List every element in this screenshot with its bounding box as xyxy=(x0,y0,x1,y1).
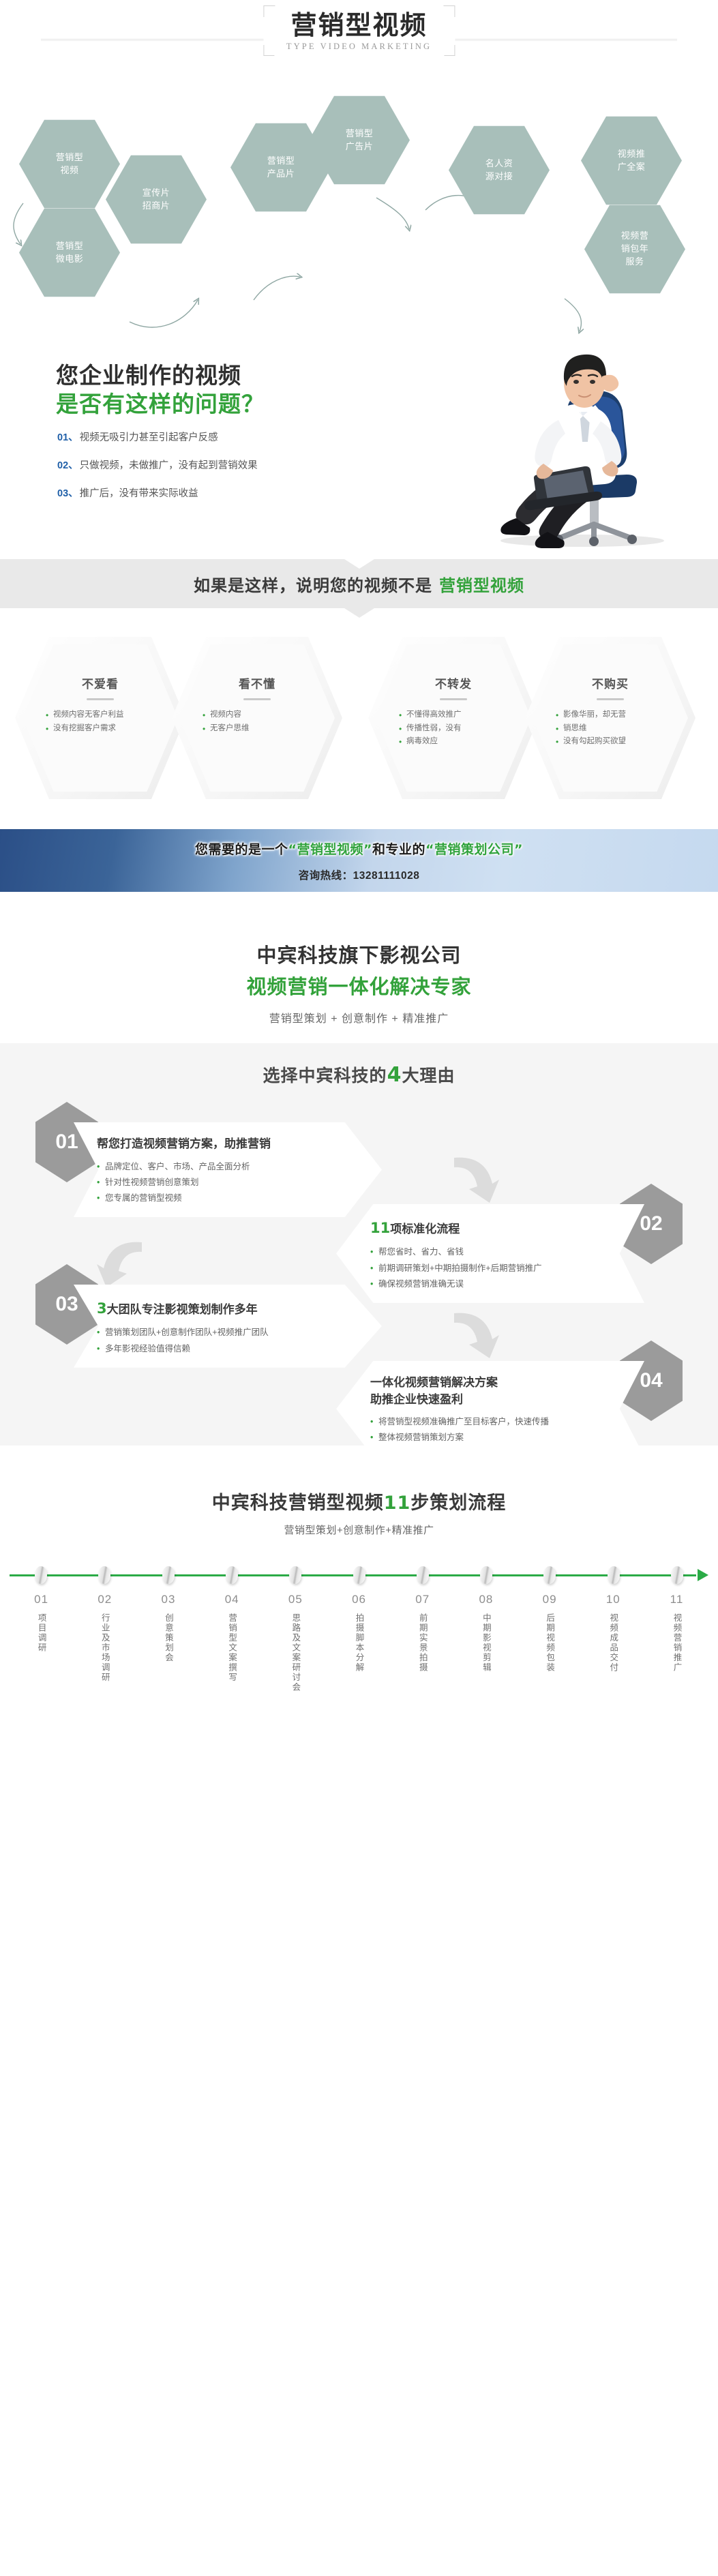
timeline-step-label: 思路及文案研讨会 xyxy=(288,1613,302,1692)
timeline-node[interactable] xyxy=(353,1566,365,1584)
reason-title-number-02: 11 xyxy=(370,1220,390,1236)
divider xyxy=(243,698,271,700)
problem-hex-row: 不爱看 视频内容无客户利益 没有挖掘客户需求 看不懂 视频内容 无客户思维 不转… xyxy=(0,637,718,814)
problem-item-number: 02、 xyxy=(57,460,78,471)
flow-arrow-down-right xyxy=(450,1151,509,1210)
timeline-title: 中宾科技营销型视频11步策划流程 xyxy=(0,1488,718,1514)
timeline-step-number: 06 xyxy=(327,1593,391,1606)
timeline-title-number: 11 xyxy=(384,1493,411,1514)
problem-list-item: 01、视频无吸引力甚至引起客户反感 xyxy=(57,430,258,444)
timeline-step-label: 营销型文案撰写 xyxy=(225,1613,239,1683)
problem-hex-2-bullet: 无客户思维 xyxy=(203,722,312,736)
timeline-step-number: 09 xyxy=(518,1593,582,1606)
businessman-photo xyxy=(456,346,695,551)
timeline-step[interactable]: 09 后期视频包装 xyxy=(518,1593,582,1696)
problem-hex-2[interactable]: 看不懂 视频内容 无客户思维 xyxy=(172,637,342,799)
flow-arrow-down-right-2 xyxy=(450,1306,509,1365)
conclusion-banner: 如果是这样，说明您的视频不是营销型视频 xyxy=(0,559,718,608)
timeline-step-label: 拍摄脚本分解 xyxy=(353,1613,366,1673)
timeline-step-number: 07 xyxy=(391,1593,454,1606)
reason-title-04: 一体化视频营销解决方案 助推企业快速盈利 xyxy=(370,1375,621,1408)
problem-hex-3[interactable]: 不转发 不懂得高效推广 传播性弱，没有 病毒效应 xyxy=(368,637,539,799)
timeline-node[interactable] xyxy=(226,1566,238,1584)
timeline-step-number: 02 xyxy=(73,1593,136,1606)
timeline-step[interactable]: 03 创意策划会 xyxy=(136,1593,200,1696)
timeline-step[interactable]: 06 拍摄脚本分解 xyxy=(327,1593,391,1696)
reason-title-number-03: 3 xyxy=(97,1300,107,1317)
timeline-step[interactable]: 01 项目调研 xyxy=(10,1593,73,1696)
reason-title-rest-02: 项标准化流程 xyxy=(390,1223,460,1236)
timeline-step-label: 项目调研 xyxy=(35,1613,48,1653)
problem-item-text: 只做视频，未做推广，没有起到营销效果 xyxy=(80,460,258,471)
timeline-step[interactable]: 07 前期实景拍摄 xyxy=(391,1593,454,1696)
divider xyxy=(597,698,624,700)
landing-page: 营销型视频 TYPE VIDEO MARKETING 营销型 视频 xyxy=(0,0,718,1716)
timeline-node[interactable] xyxy=(417,1566,429,1584)
problem-hex-3-bullet-cont: 病毒效应 xyxy=(399,735,508,749)
problem-heading-line1: 您企业制作的视频 xyxy=(56,357,241,390)
reasons-cards: 01 帮您打造视频营销方案，助推营销 品牌定位、客户、市场、产品全面分析 针对性… xyxy=(0,1102,718,1422)
problem-item-text: 视频无吸引力甚至引起客户反感 xyxy=(80,432,218,443)
timeline-subtitle: 营销型策划+创意制作+精准推广 xyxy=(0,1523,718,1537)
service-hex-6[interactable]: 视频推 广全案 xyxy=(581,115,682,207)
company-section: 中宾科技旗下影视公司 视频营销一体化解决专家 营销型策划 + 创意制作 + 精准… xyxy=(0,916,718,1043)
timeline-step-number: 11 xyxy=(645,1593,708,1606)
reason-bullet: 营销策划团队+创意制作团队+视频推广团队 xyxy=(97,1325,365,1341)
cta-hotline[interactable]: 咨询热线：13281111028 xyxy=(299,867,420,882)
problem-hex-1-bullet: 没有挖掘客户需求 xyxy=(46,722,155,736)
service-hex-2-label: 宣传片 招商片 xyxy=(133,187,180,213)
reason-bullet: 帮您省时、省力、省钱 xyxy=(370,1244,621,1260)
cta-banner: 您需要的是一个“营销型视频”和专业的“营销策划公司” 咨询热线：13281111… xyxy=(0,829,718,892)
timeline-section: 中宾科技营销型视频11步策划流程 营销型策划+创意制作+精准推广 01 项目调研 xyxy=(0,1446,718,1716)
timeline-step-number: 05 xyxy=(264,1593,327,1606)
timeline-node[interactable] xyxy=(35,1566,47,1584)
timeline-step-label: 行业及市场调研 xyxy=(98,1613,112,1683)
service-hex-1[interactable]: 营销型 视频 xyxy=(19,118,120,210)
divider xyxy=(87,698,114,700)
problem-heading-line2: 是否有这样的问题？ xyxy=(56,386,265,419)
company-line1: 中宾科技旗下影视公司 xyxy=(0,940,718,968)
problem-hex-1[interactable]: 不爱看 视频内容无客户利益 没有挖掘客户需求 xyxy=(15,637,185,799)
service-hex-2[interactable]: 宣传片 招商片 xyxy=(106,153,207,245)
problem-item-number: 03、 xyxy=(57,488,78,499)
reasons-section: 选择中宾科技的4大理由 01 帮您打造视频营销方案，助推营销 品牌定位、客户、市… xyxy=(0,1043,718,1446)
problem-hex-3-title: 不转发 xyxy=(435,674,472,691)
service-hex-5-label: 名人资 源对接 xyxy=(476,158,523,183)
problem-hex-1-title: 不爱看 xyxy=(82,674,119,691)
reasons-title-prefix: 选择中宾科技的 xyxy=(263,1066,387,1085)
timeline-steps: 01 项目调研 02 行业及市场调研 03 创意策划会 04 营销型文案撰写 0… xyxy=(10,1593,708,1696)
page-header: 营销型视频 TYPE VIDEO MARKETING xyxy=(0,0,718,82)
service-hex-8-label: 视频营 销包年 服务 xyxy=(612,230,659,269)
service-hex-grid: 营销型 视频 宣传片 招商片 营销型 产品片 营销型 广告片 名人资 源对接 视… xyxy=(0,82,718,334)
cta-banner-section: 您需要的是一个“营销型视频”和专业的“营销策划公司” 咨询热线：13281111… xyxy=(0,814,718,916)
timeline-step-number: 01 xyxy=(10,1593,73,1606)
timeline-step-number: 03 xyxy=(136,1593,200,1606)
reason-title-03: 3大团队专注影视策划制作多年 xyxy=(97,1298,365,1319)
service-hex-8[interactable]: 视频营 销包年 服务 xyxy=(584,203,685,295)
service-hex-3-label: 营销型 产品片 xyxy=(258,155,305,181)
conclusion-banner-text: 如果是这样，说明您的视频不是营销型视频 xyxy=(194,572,524,596)
service-hex-7-label: 营销型 微电影 xyxy=(46,240,93,266)
problem-item-text: 推广后，没有带来实际收益 xyxy=(80,488,198,499)
problem-hex-3-bullet: 不懂得高效推广 xyxy=(399,708,508,722)
problem-list-item: 03、推广后，没有带来实际收益 xyxy=(57,485,258,500)
timeline-title-suffix: 步策划流程 xyxy=(410,1493,506,1514)
header-title-box: 营销型视频 TYPE VIDEO MARKETING xyxy=(263,5,455,56)
timeline-step-label: 视频成品交付 xyxy=(606,1613,620,1673)
page-subtitle-en: TYPE VIDEO MARKETING xyxy=(286,42,432,52)
reason-title-01: 帮您打造视频营销方案，助推营销 xyxy=(97,1136,365,1153)
reason-bullet: 确保视频营销准确无误 xyxy=(370,1276,621,1292)
timeline-node[interactable] xyxy=(543,1566,556,1584)
timeline-node[interactable] xyxy=(480,1566,492,1584)
reason-bullet: 前期调研策划+中期拍摄制作+后期营销推广 xyxy=(370,1261,621,1276)
reason-title-02: 11项标准化流程 xyxy=(370,1218,621,1238)
reasons-title: 选择中宾科技的4大理由 xyxy=(0,1062,718,1087)
timeline-step-label: 视频营销推广 xyxy=(670,1613,683,1673)
timeline-node[interactable] xyxy=(98,1566,110,1584)
divider xyxy=(440,698,467,700)
reason-bullet: 针对性视频营销创意策划 xyxy=(97,1175,365,1190)
banner-notch-bottom xyxy=(344,608,374,618)
timeline-step[interactable]: 02 行业及市场调研 xyxy=(73,1593,136,1696)
timeline-title-prefix: 中宾科技营销型视频 xyxy=(212,1493,384,1514)
problem-hex-2-bullet: 视频内容 xyxy=(203,708,312,722)
problem-hex-4[interactable]: 不购买 影像华丽，却无营 销思维 没有勾起购买欲望 xyxy=(525,637,695,799)
reason-title-rest-03: 大团队专注影视策划制作多年 xyxy=(107,1303,258,1317)
timeline-step[interactable]: 05 思路及文案研讨会 xyxy=(264,1593,327,1696)
timeline-step-label: 前期实景拍摄 xyxy=(416,1613,430,1673)
problem-list-item: 02、只做视频，未做推广，没有起到营销效果 xyxy=(57,458,258,472)
timeline-step[interactable]: 10 视频成品交付 xyxy=(582,1593,645,1696)
page-title: 营销型视频 xyxy=(286,11,432,41)
company-line2: 视频营销一体化解决专家 xyxy=(0,971,718,1000)
problem-hex-4-bullet-cont: 销思维 xyxy=(556,722,665,736)
timeline-track xyxy=(10,1568,708,1582)
timeline-step[interactable]: 04 营销型文案撰写 xyxy=(200,1593,264,1696)
service-hex-1-label: 营销型 视频 xyxy=(46,151,93,177)
cta-headline: 您需要的是一个“营销型视频”和专业的“营销策划公司” xyxy=(195,839,523,858)
reason-bullet: 多年影视经验值得信赖 xyxy=(97,1341,365,1357)
cta-quote2: “营销策划公司” xyxy=(425,842,523,857)
timeline-node[interactable] xyxy=(162,1566,175,1584)
timeline-step[interactable]: 08 中期影视剪辑 xyxy=(454,1593,518,1696)
problem-list: 01、视频无吸引力甚至引起客户反感 02、只做视频，未做推广，没有起到营销效果 … xyxy=(57,430,258,513)
banner-prefix: 如果是这样，说明您的视频不是 xyxy=(194,576,432,595)
reason-bullet: 整体视频营销策划方案 xyxy=(370,1430,621,1446)
banner-highlight: 营销型视频 xyxy=(439,576,524,595)
problem-hex-3-bullet: 传播性弱，没有 xyxy=(399,722,508,736)
problem-hex-1-bullet: 视频内容无客户利益 xyxy=(46,708,155,722)
service-hex-6-label: 视频推 广全案 xyxy=(608,148,655,174)
reason-bullet: 品牌定位、客户、市场、产品全面分析 xyxy=(97,1159,365,1175)
problem-hex-4-bullet: 没有勾起购买欲望 xyxy=(556,735,665,749)
company-line3: 营销型策划 + 创意制作 + 精准推广 xyxy=(0,1009,718,1025)
cta-part2: 和专业的 xyxy=(372,842,425,857)
timeline-node[interactable] xyxy=(289,1566,301,1584)
problem-hex-2-title: 看不懂 xyxy=(239,674,275,691)
cta-part1: 您需要的是一个 xyxy=(195,842,288,857)
banner-notch-top xyxy=(344,559,374,569)
timeline-step-label: 中期影视剪辑 xyxy=(479,1613,493,1673)
timeline-arrowhead-icon xyxy=(698,1569,708,1581)
timeline-step-number: 04 xyxy=(200,1593,264,1606)
service-hex-7[interactable]: 营销型 微电影 xyxy=(19,207,120,299)
timeline-step[interactable]: 11 视频营销推广 xyxy=(645,1593,708,1696)
reason-bullet: 您专属的营销型视频 xyxy=(97,1190,365,1206)
timeline-node[interactable] xyxy=(671,1566,683,1584)
reasons-title-suffix: 大理由 xyxy=(402,1066,455,1085)
timeline-step-label: 创意策划会 xyxy=(162,1613,175,1663)
timeline-node[interactable] xyxy=(608,1566,620,1584)
timeline-step-number: 10 xyxy=(582,1593,645,1606)
cta-quote1: “营销型视频” xyxy=(288,842,372,857)
service-hex-5[interactable]: 名人资 源对接 xyxy=(449,124,550,216)
problem-hex-4-title: 不购买 xyxy=(592,674,629,691)
problem-intro-section: 您企业制作的视频 是否有这样的问题？ 01、视频无吸引力甚至引起客户反感 02、… xyxy=(0,334,718,559)
problem-hex-4-bullet: 影像华丽，却无营 xyxy=(556,708,665,722)
timeline-step-number: 08 xyxy=(454,1593,518,1606)
timeline-step-label: 后期视频包装 xyxy=(543,1613,556,1673)
service-hex-4-label: 营销型 广告片 xyxy=(336,128,383,153)
reasons-title-number: 4 xyxy=(387,1063,402,1087)
problem-item-number: 01、 xyxy=(57,432,78,443)
reason-bullet: 将营销型视频准确推广至目标客户，快速传播 xyxy=(370,1414,621,1430)
